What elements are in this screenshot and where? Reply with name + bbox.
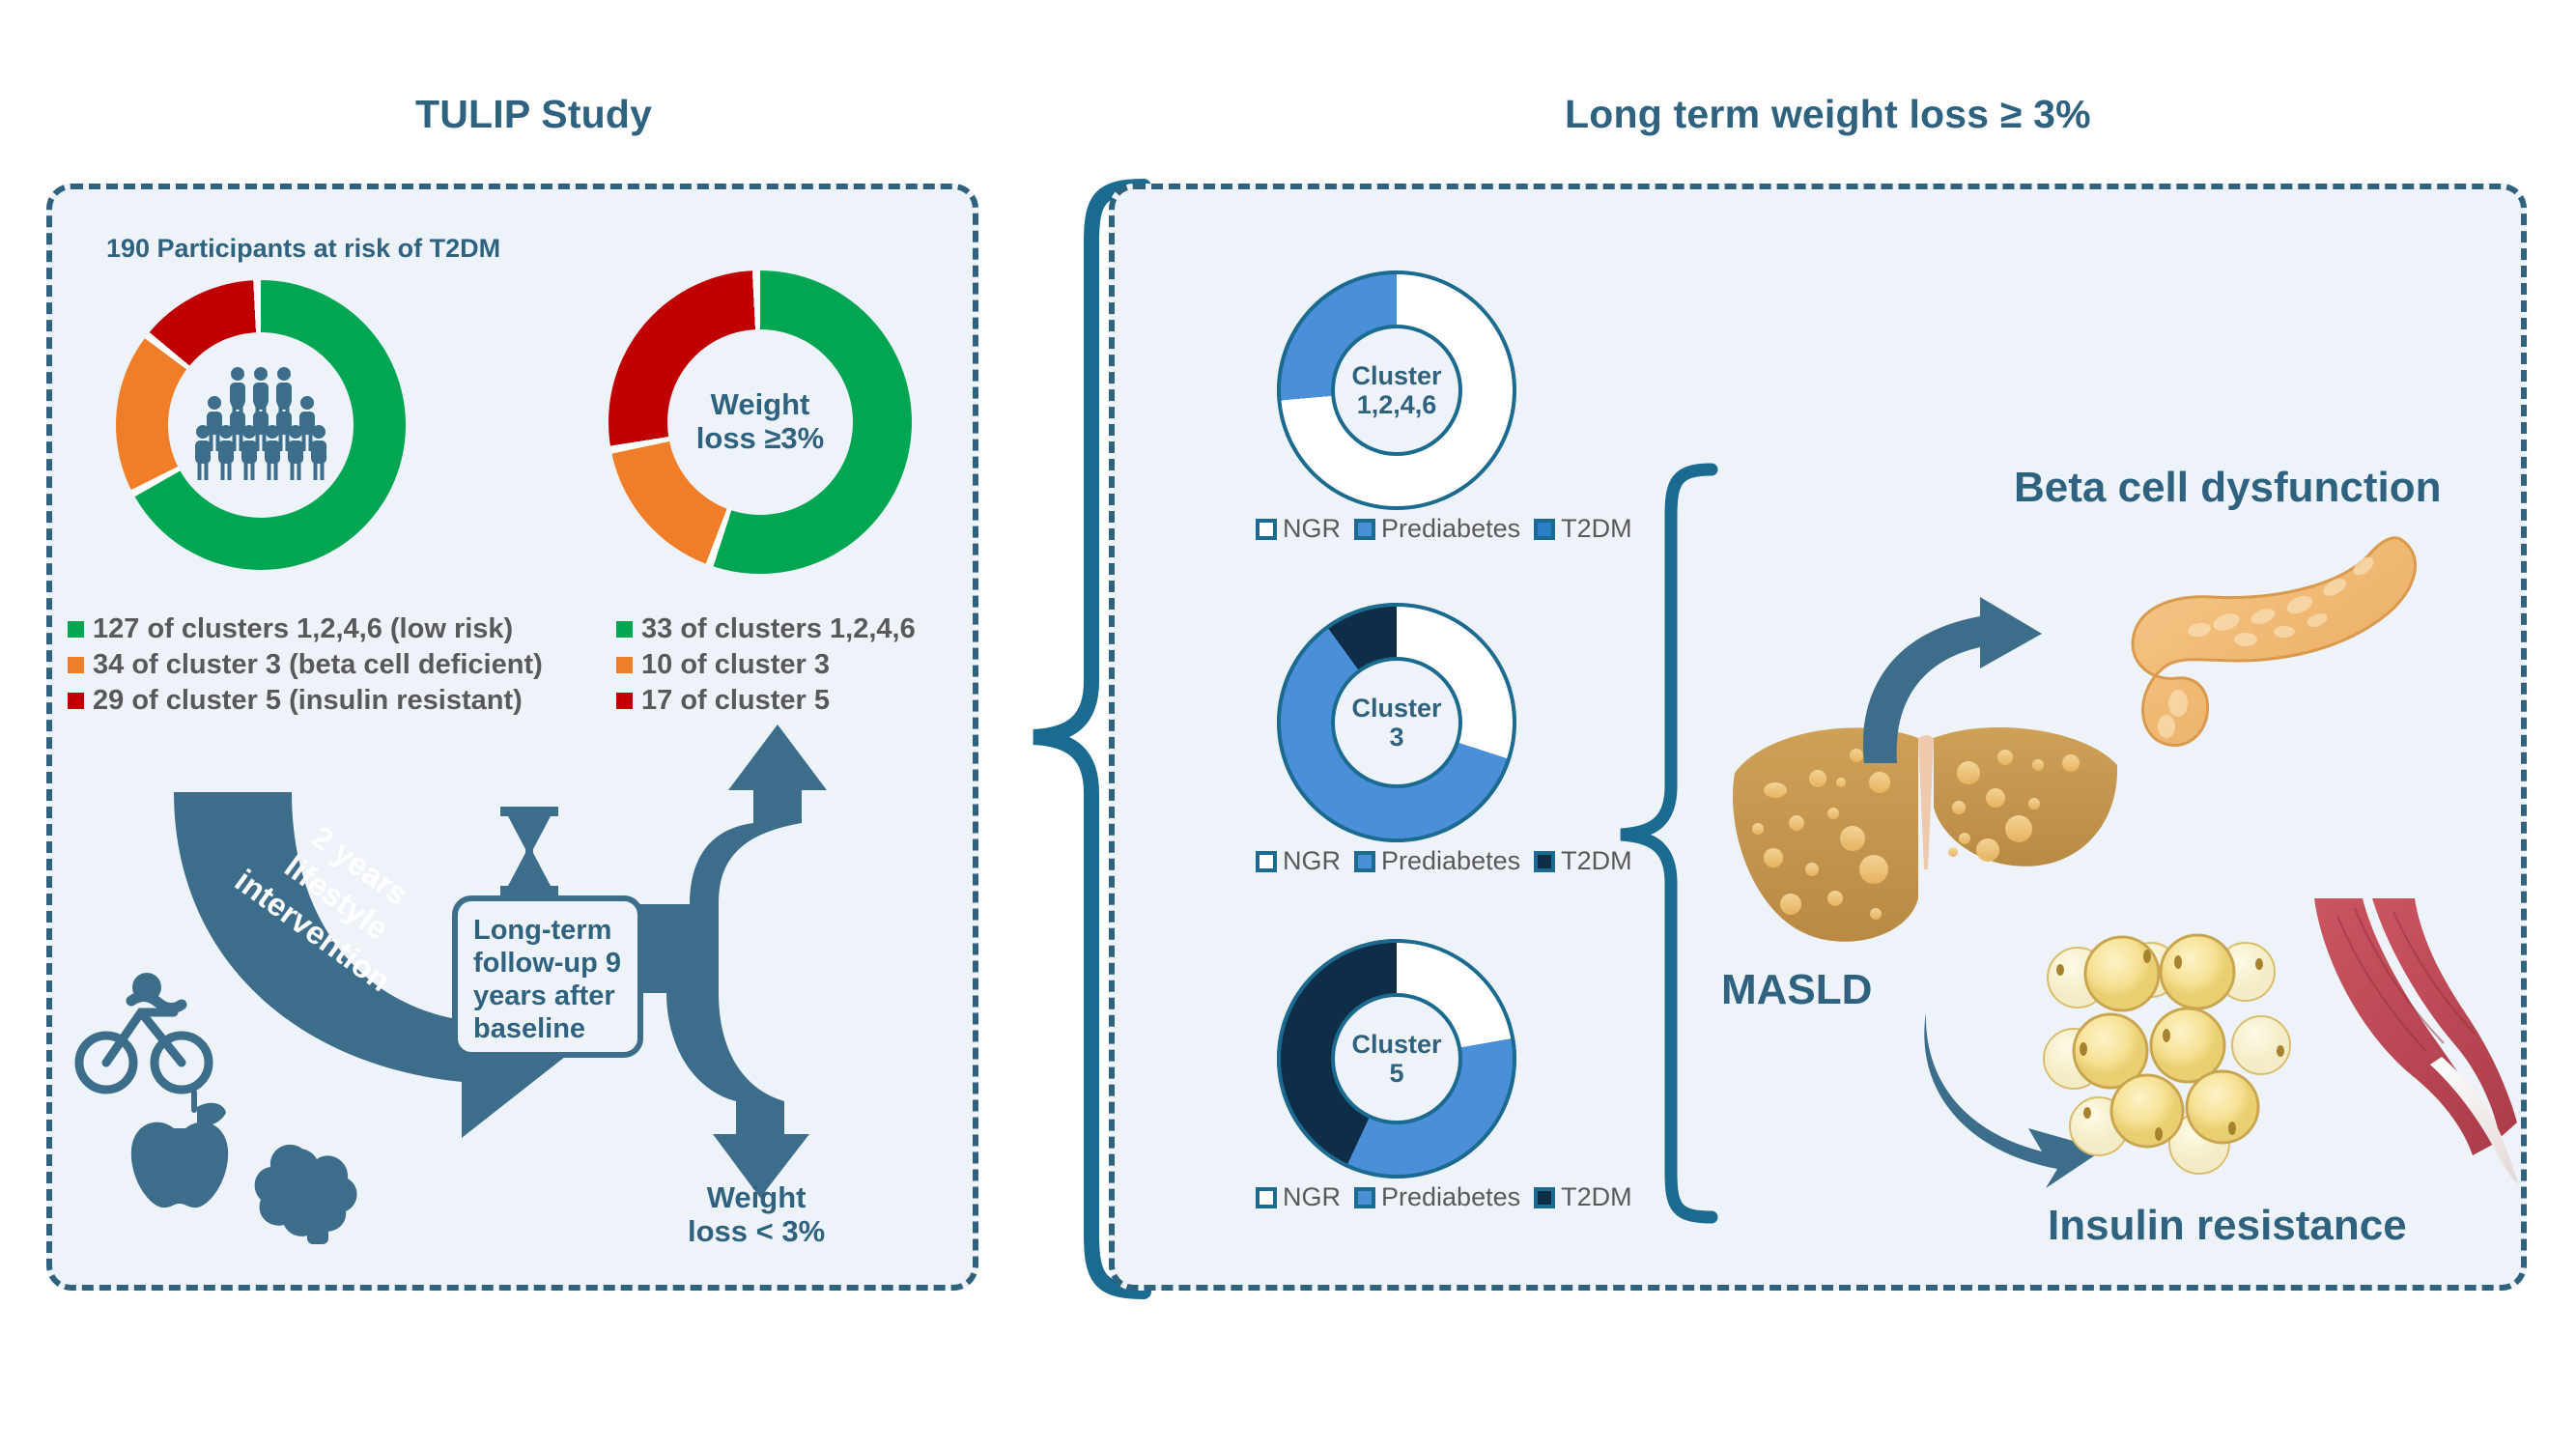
adipocytes-illustration xyxy=(2043,927,2304,1179)
beta-cell-dysfunction-label: Beta cell dysfunction xyxy=(2014,464,2442,512)
branch-down-line2: loss < 3% xyxy=(688,1214,825,1248)
legend-swatch-red xyxy=(68,693,84,709)
legend-participants: 127 of clusters 1,2,4,6 (low risk) 34 of… xyxy=(68,613,543,721)
legend-swatch-prediabetes xyxy=(1354,519,1375,540)
donut-participants-center xyxy=(168,332,354,518)
legend-item-prediabetes: Prediabetes xyxy=(1354,1182,1520,1212)
branch-down-line1: Weight xyxy=(688,1180,825,1214)
legend-item: 10 of cluster 3 xyxy=(616,649,916,681)
arrow-up-branch-icon xyxy=(637,775,802,956)
donut-participants xyxy=(116,280,406,570)
legend-label: 34 of cluster 3 (beta cell deficient) xyxy=(93,649,543,681)
followup-box: Long-term follow-up 9 years after baseli… xyxy=(452,895,643,1058)
donut-weight-loss: Weight loss ≥3% xyxy=(609,270,912,574)
page-title-right: Long term weight loss ≥ 3% xyxy=(1565,92,2091,137)
broccoli-icon xyxy=(255,1145,357,1244)
cluster-label-line1: Cluster xyxy=(1351,1030,1441,1059)
legend-swatch-ngr xyxy=(1256,519,1277,540)
legend-swatch-t2dm xyxy=(1534,851,1555,872)
donut-cluster-5-center: Cluster 5 xyxy=(1331,993,1462,1124)
legend-swatch-green xyxy=(616,621,633,638)
legend-swatch-green xyxy=(68,621,84,638)
legend-swatch-ngr xyxy=(1256,1187,1277,1208)
donut-cluster-5: Cluster 5 xyxy=(1277,939,1516,1179)
arrow-to-pancreas-icon xyxy=(1853,597,2075,771)
legend-item-prediabetes: Prediabetes xyxy=(1354,846,1520,876)
legend-item-ngr: NGR xyxy=(1256,514,1341,544)
brace-connector-organs xyxy=(1611,462,1727,1225)
cluster-label-line2: 1,2,4,6 xyxy=(1351,390,1441,419)
cluster-label-line2: 3 xyxy=(1351,723,1441,752)
legend-item: 29 of cluster 5 (insulin resistant) xyxy=(68,685,543,717)
legend-label: 127 of clusters 1,2,4,6 (low risk) xyxy=(93,613,513,645)
legend-item-ngr: NGR xyxy=(1256,846,1341,876)
legend-swatch-orange xyxy=(616,657,633,673)
donut-cluster-3-center: Cluster 3 xyxy=(1331,657,1462,788)
legend-swatch-ngr xyxy=(1256,851,1277,872)
weight-loss-center-line2: loss ≥3% xyxy=(696,422,824,456)
cyclist-body-icon xyxy=(131,996,182,1008)
donut-cluster-1246: Cluster 1,2,4,6 xyxy=(1277,270,1516,510)
legend-item: 127 of clusters 1,2,4,6 (low risk) xyxy=(68,613,543,645)
skeletal-muscle-illustration xyxy=(2308,898,2531,1188)
branching-arrows xyxy=(637,715,879,1256)
legend-swatch-t2dm xyxy=(1534,519,1555,540)
cluster-label-line2: 5 xyxy=(1351,1059,1441,1088)
masld-label: MASLD xyxy=(1721,966,1872,1014)
hourglass-icon xyxy=(495,807,564,895)
legend-label-ngr: NGR xyxy=(1283,514,1341,544)
legend-item-ngr: NGR xyxy=(1256,1182,1341,1212)
people-group-icon xyxy=(188,366,333,484)
legend-swatch-red xyxy=(616,693,633,709)
legend-cluster-5: NGR Prediabetes T2DM xyxy=(1256,1182,1632,1212)
legend-label-prediabetes: Prediabetes xyxy=(1381,846,1520,876)
pancreas-illustration xyxy=(2110,533,2439,755)
legend-item-prediabetes: Prediabetes xyxy=(1354,514,1520,544)
arrow-down-branch-icon xyxy=(637,956,784,1151)
legend-item: 34 of cluster 3 (beta cell deficient) xyxy=(68,649,543,681)
legend-swatch-orange xyxy=(68,657,84,673)
page-title-left: TULIP Study xyxy=(415,92,652,137)
legend-label-prediabetes: Prediabetes xyxy=(1381,514,1520,544)
legend-swatch-t2dm xyxy=(1534,1187,1555,1208)
cluster-label-line1: Cluster xyxy=(1351,694,1441,723)
legend-item: 33 of clusters 1,2,4,6 xyxy=(616,613,916,645)
legend-label-prediabetes: Prediabetes xyxy=(1381,1182,1520,1212)
donut-weight-loss-center: Weight loss ≥3% xyxy=(667,329,853,515)
donut-cluster-1246-center: Cluster 1,2,4,6 xyxy=(1331,325,1462,456)
legend-label: 33 of clusters 1,2,4,6 xyxy=(641,613,916,645)
legend-swatch-prediabetes xyxy=(1354,1187,1375,1208)
weight-loss-center-line1: Weight xyxy=(696,388,824,422)
bicycle-icon xyxy=(79,1012,209,1090)
donut-cluster-3: Cluster 3 xyxy=(1277,603,1516,842)
apple-icon xyxy=(131,1090,228,1207)
legend-label-ngr: NGR xyxy=(1283,846,1341,876)
legend-label: 29 of cluster 5 (insulin resistant) xyxy=(93,685,523,717)
participants-header: 190 Participants at risk of T2DM xyxy=(106,234,500,264)
legend-label-ngr: NGR xyxy=(1283,1182,1341,1212)
cluster-label-line1: Cluster xyxy=(1351,361,1441,390)
legend-cluster-1246: NGR Prediabetes T2DM xyxy=(1256,514,1632,544)
insulin-resistance-label: Insulin resistance xyxy=(2048,1202,2407,1250)
legend-label: 10 of cluster 3 xyxy=(641,649,830,681)
legend-swatch-prediabetes xyxy=(1354,851,1375,872)
branch-down-label: Weight loss < 3% xyxy=(688,1180,825,1249)
legend-cluster-3: NGR Prediabetes T2DM xyxy=(1256,846,1632,876)
